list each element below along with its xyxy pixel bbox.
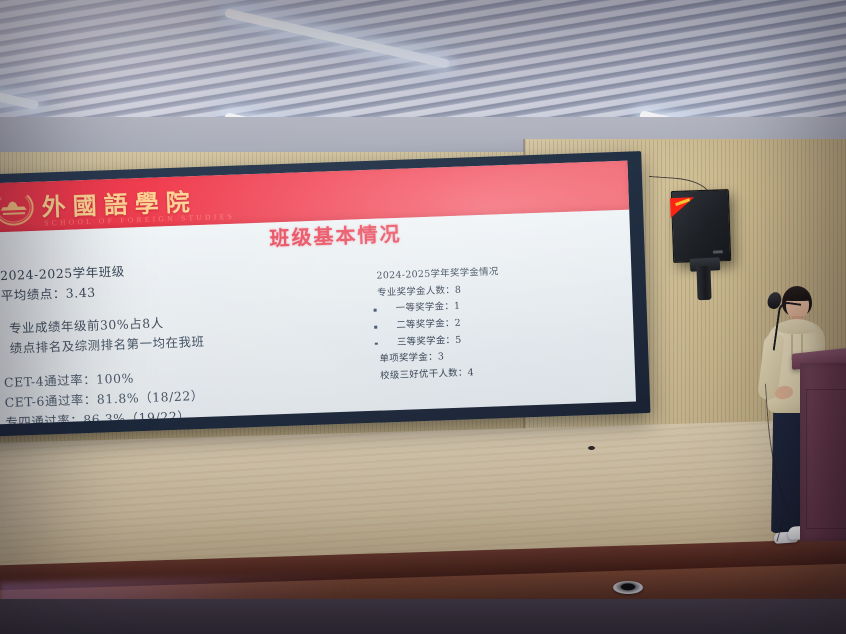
wall-mounted-speaker: [671, 189, 731, 263]
lecture-hall-scene: 外國語學院 SCHOOL OF FOREIGN STUDIES 班级基本情况 2…: [0, 0, 846, 634]
slide-title: 班级基本情况: [269, 218, 402, 252]
right-bullet-label: 三等奖学金：5: [379, 334, 462, 348]
projection-screen[interactable]: 外國語學院 SCHOOL OF FOREIGN STUDIES 班级基本情况 2…: [0, 151, 650, 437]
speaker-brand-badge: [713, 250, 723, 253]
left-block-academics: 2024-2025学年班级 平均绩点：3.43: [0, 255, 312, 306]
slide-right-column: 2024-2025学年奖学金情况 专业奖学金人数：8 一等奖学金：1 二等奖学金…: [372, 259, 635, 385]
right-bullet-label: 一等奖学金：1: [378, 301, 461, 315]
wooden-lectern: [800, 350, 846, 580]
screen-bezel: 外國語學院 SCHOOL OF FOREIGN STUDIES 班级基本情况 2…: [0, 151, 650, 437]
left-block-ranking: 专业成绩年级前30%占8人 绩点排名及综测排名第一均在我班: [2, 308, 314, 359]
presentation-slide: 外國語學院 SCHOOL OF FOREIGN STUDIES 班级基本情况 2…: [0, 161, 636, 425]
right-bullet-label: 二等奖学金：2: [378, 318, 461, 332]
lectern-front-panel: [806, 389, 846, 529]
slide-left-column: 2024-2025学年班级 平均绩点：3.43 专业成绩年级前30%占8人 绩点…: [0, 255, 316, 424]
foreground-floor-shadow: [0, 599, 846, 634]
speaker-mount-pole: [696, 266, 711, 300]
left-block-exams: CET-4通过率：100% CET-6通过率：81.8%（18/22） 专四通过…: [4, 361, 317, 424]
lectern-body: [800, 363, 846, 541]
school-crest-emblem: [0, 189, 34, 226]
